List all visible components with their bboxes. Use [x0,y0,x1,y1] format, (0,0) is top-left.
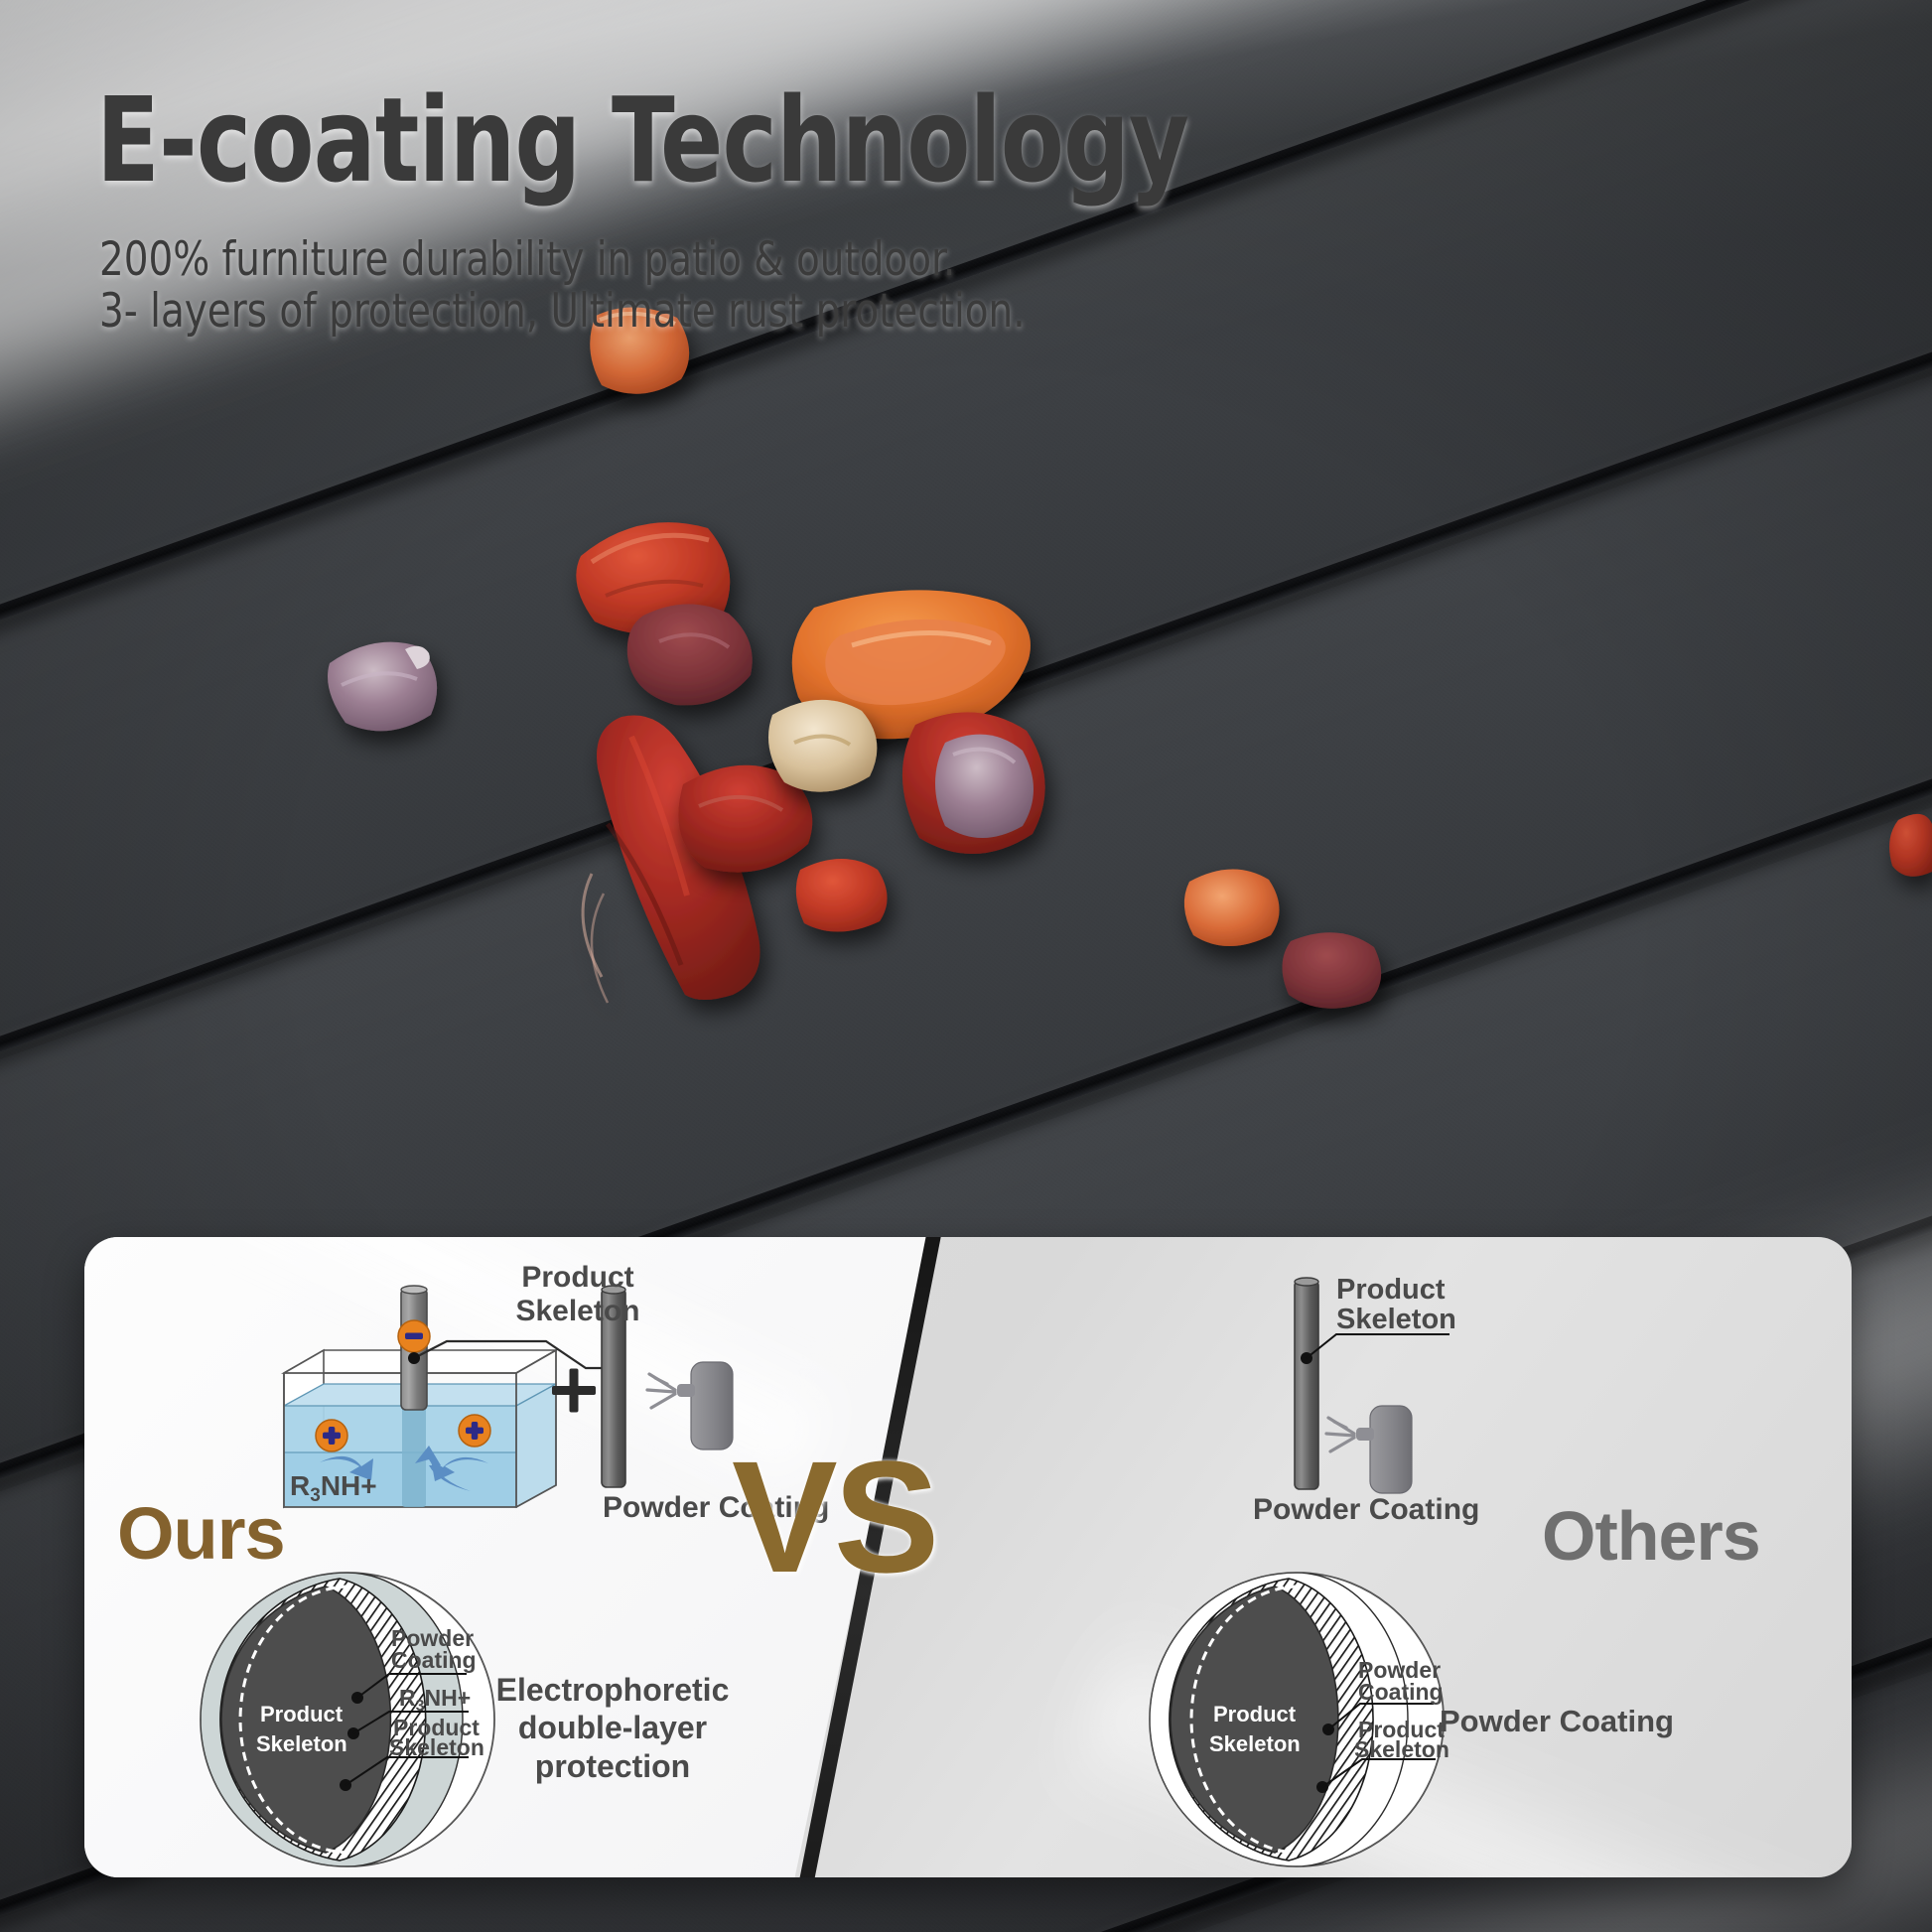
page-title: E-coating Technology [96,81,1188,199]
ours-core-label-line2: Skeleton [256,1731,347,1756]
ours-result-text: Electrophoretic double-layer protection [449,1671,776,1785]
vs-label: VS [732,1438,935,1596]
others-skeleton-label-line2: Skeleton [1336,1304,1456,1335]
others-label: Others [1542,1496,1760,1576]
others-cross-section: Product Skeleton Powder Coating Product … [1003,1571,1469,1868]
ours-result-line1: Electrophoretic [496,1672,730,1708]
spray-gun-icon [1326,1406,1412,1493]
spray-gun-icon [647,1362,733,1449]
subtitle-line-2: 3- layers of protection, Ultimate rust p… [99,282,1026,342]
ours-process-diagram: R3NH+ Product Skeleton Powder Coati [228,1259,794,1557]
ours-label: Ours [117,1491,285,1576]
electrolyte-label: R3NH+ [290,1470,377,1506]
ours-skeleton-label-line1: Product [521,1261,633,1294]
ours-core-label-line1: Product [260,1702,344,1726]
others-result-text: Powder Coating [1440,1703,1767,1739]
others-skeleton-label-line1: Product [1336,1274,1446,1306]
positive-charge [459,1415,490,1447]
ours-skeleton-label-line2: Skeleton [515,1295,639,1327]
svg-text:Coating: Coating [391,1647,477,1673]
others-core-label-line2: Skeleton [1209,1731,1301,1756]
others-powder-coating-label: Powder Coating [1253,1493,1479,1526]
infographic-root: E-coating Technology 200% furniture dura… [0,0,1932,1932]
svg-text:Coating: Coating [1358,1679,1444,1705]
positive-charge [316,1420,347,1451]
ours-result-line2: double-layer protection [518,1710,707,1783]
svg-text:Skeleton: Skeleton [1354,1736,1449,1762]
plus-sign [552,1369,596,1413]
others-core-label-line1: Product [1213,1702,1297,1726]
